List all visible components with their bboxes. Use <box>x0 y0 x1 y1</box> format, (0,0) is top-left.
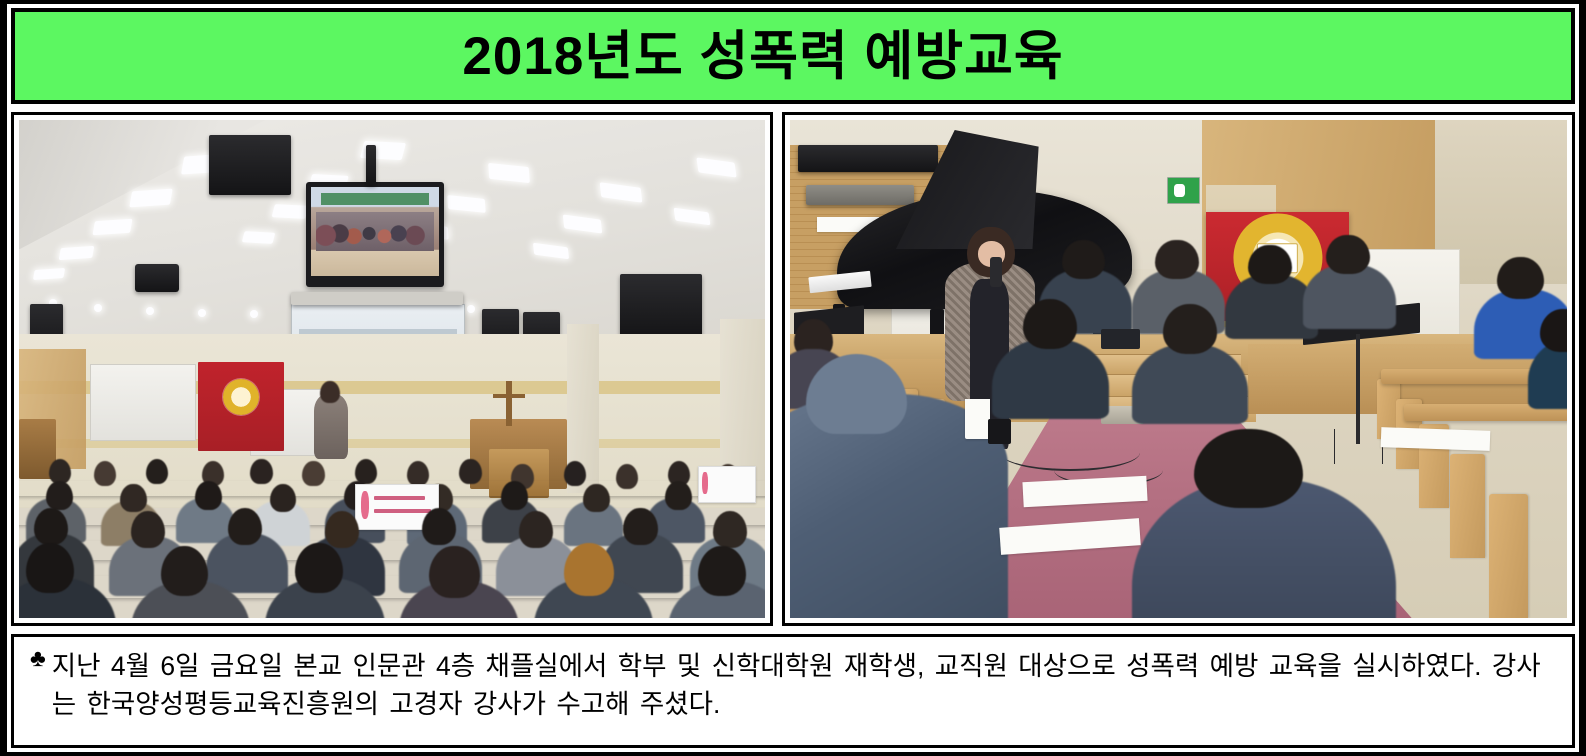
poster-root: 2018년도 성폭력 예방교육 <box>0 0 1586 756</box>
audience-head <box>519 511 553 548</box>
caption-text: 지난 4월 6일 금요일 본교 인문관 4층 채플실에서 학부 및 신학대학원 … <box>52 647 1558 724</box>
lecturer-head <box>320 381 339 403</box>
audience-head <box>1163 304 1217 354</box>
handout-paper <box>1380 427 1489 451</box>
ceiling-light <box>241 231 275 244</box>
laptop-device <box>1101 329 1140 349</box>
audience-head <box>355 459 377 484</box>
caption-box: ♣ 지난 4월 6일 금요일 본교 인문관 4층 채플실에서 학부 및 신학대학… <box>11 634 1575 748</box>
stand-tripod <box>1334 429 1383 464</box>
audience-head <box>564 543 615 595</box>
notice-text-line <box>374 496 425 500</box>
audience-head <box>1326 235 1370 275</box>
page-title: 2018년도 성폭력 예방교육 <box>462 30 1123 83</box>
audience-head <box>583 484 610 513</box>
audience-head <box>26 543 74 593</box>
ceiling-tv-monitor <box>306 182 444 287</box>
audience-head <box>698 546 746 596</box>
tv-group-photo <box>316 212 434 251</box>
chapel-aisle-view: AΩ 학문 · 경건 · 사랑 <box>790 120 1567 618</box>
audience-head <box>407 461 429 486</box>
audience-head <box>501 481 528 510</box>
title-banner: 2018년도 성폭력 예방교육 <box>11 8 1575 104</box>
audience-head <box>713 511 747 548</box>
photo-row: AΩ 학문 · 경건 · 사랑 <box>11 112 1575 626</box>
pew-end-post <box>1489 494 1528 619</box>
ceiling-light <box>92 218 132 235</box>
ceiling-light <box>59 246 94 260</box>
tv-mount-bracket <box>366 145 376 185</box>
audience-torso <box>992 339 1109 419</box>
audience-head <box>120 484 147 513</box>
audience-head <box>34 508 68 545</box>
university-seal <box>223 379 259 415</box>
handheld-microphone <box>990 257 1002 287</box>
audience-head <box>1155 240 1199 280</box>
audience-head <box>1248 245 1292 285</box>
tv-banner-graphic <box>321 193 429 205</box>
left-photo-cell <box>11 112 773 626</box>
audience-head <box>228 508 262 545</box>
smartphone <box>988 419 1011 444</box>
audience-torso <box>1132 344 1249 424</box>
lecturer-front <box>314 394 348 459</box>
paper-cup <box>965 399 990 439</box>
audience-head <box>564 461 586 486</box>
audience-head <box>429 546 480 598</box>
pew-notice <box>698 466 756 503</box>
audience-head <box>195 481 222 510</box>
audience-head <box>325 511 359 548</box>
audience-head <box>131 511 165 548</box>
audience-head <box>250 459 272 484</box>
chapel-wide-view <box>19 120 765 618</box>
wall-av-unit <box>798 145 938 172</box>
audience-head <box>665 481 692 510</box>
club-icon: ♣ <box>30 647 52 671</box>
stage-backboard <box>90 364 196 441</box>
notice-text-line <box>374 509 431 513</box>
audience-head <box>623 508 657 545</box>
emergency-exit-sign <box>1167 177 1200 204</box>
stand-pole <box>1356 334 1361 444</box>
audience-head <box>49 459 71 484</box>
wooden-cross <box>493 394 524 398</box>
podium-red-banner <box>198 362 284 452</box>
wooden-cross <box>506 381 512 426</box>
audience-head <box>46 481 73 510</box>
tv-screen <box>311 187 439 276</box>
cove-downlight <box>467 305 475 313</box>
pew-end-post <box>1450 454 1484 559</box>
audience-head <box>94 461 116 486</box>
screen-roller-housing <box>291 292 463 305</box>
rear-av-cabinet <box>620 274 702 339</box>
projector <box>135 264 180 291</box>
audience-head <box>616 464 638 489</box>
right-photo-cell: AΩ 학문 · 경건 · 사랑 <box>782 112 1575 626</box>
audience-torso <box>1303 264 1396 329</box>
ceiling-light <box>271 204 308 219</box>
foreground-person-head <box>1194 429 1303 509</box>
cove-downlight <box>94 304 102 312</box>
audience-head <box>146 459 168 484</box>
audience-head <box>422 508 456 545</box>
audience-head <box>459 459 481 484</box>
audience-head <box>1023 299 1077 349</box>
right-photo-image: AΩ 학문 · 경건 · 사랑 <box>790 120 1567 618</box>
left-photo-image <box>19 120 765 618</box>
audience-head <box>302 461 324 486</box>
ceiling-light <box>129 188 173 207</box>
wall-control-panel <box>806 185 915 205</box>
audience-head <box>295 543 343 593</box>
ceiling-speaker <box>209 135 291 195</box>
audience-head <box>1497 257 1544 299</box>
